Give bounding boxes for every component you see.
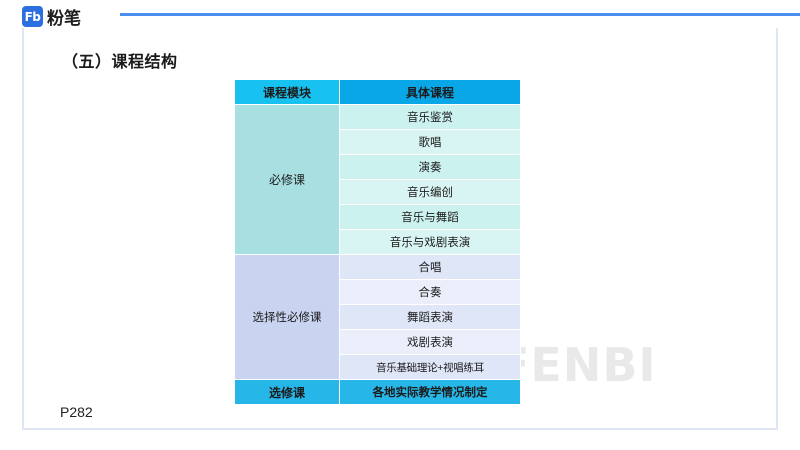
module-required: 必修课 bbox=[235, 105, 340, 255]
course-cell: 音乐编创 bbox=[340, 180, 521, 205]
course-cell: 音乐鉴赏 bbox=[340, 105, 521, 130]
table-header-row: 课程模块 具体课程 bbox=[235, 80, 521, 105]
course-cell: 戏剧表演 bbox=[340, 330, 521, 355]
frame-right-border bbox=[776, 28, 778, 428]
module-elective: 选修课 bbox=[235, 380, 340, 405]
top-rule bbox=[120, 13, 800, 16]
course-cell: 演奏 bbox=[340, 155, 521, 180]
course-cell: 舞蹈表演 bbox=[340, 305, 521, 330]
logo-text: 粉笔 bbox=[47, 4, 81, 29]
frame-bottom-border bbox=[22, 428, 778, 430]
table-row: 必修课 音乐鉴赏 bbox=[235, 105, 521, 130]
header-course: 具体课程 bbox=[340, 80, 521, 105]
course-cell: 合唱 bbox=[340, 255, 521, 280]
logo-mark-icon: Fb bbox=[22, 6, 43, 27]
course-cell: 歌唱 bbox=[340, 130, 521, 155]
top-bar: Fb 粉笔 bbox=[0, 0, 800, 28]
slide-canvas: Fb 粉笔 （五）课程结构 25FENBI P282 课程模块 具体课程 必修课… bbox=[0, 0, 800, 450]
course-cell: 合奏 bbox=[340, 280, 521, 305]
frame-left-border bbox=[22, 28, 24, 428]
module-elective-required: 选择性必修课 bbox=[235, 255, 340, 380]
course-cell: 音乐与舞蹈 bbox=[340, 205, 521, 230]
page-title: （五）课程结构 bbox=[62, 48, 178, 72]
course-cell: 音乐与戏剧表演 bbox=[340, 230, 521, 255]
course-cell: 各地实际教学情况制定 bbox=[340, 380, 521, 405]
course-structure-table: 课程模块 具体课程 必修课 音乐鉴赏 歌唱 演奏 音乐编创 音乐与舞蹈 音乐与戏… bbox=[234, 79, 521, 405]
brand-logo: Fb 粉笔 bbox=[22, 4, 81, 29]
header-module: 课程模块 bbox=[235, 80, 340, 105]
table-row: 选择性必修课 合唱 bbox=[235, 255, 521, 280]
course-cell: 音乐基础理论+视唱练耳 bbox=[340, 355, 521, 380]
table-row: 选修课 各地实际教学情况制定 bbox=[235, 380, 521, 405]
page-number: P282 bbox=[60, 404, 93, 420]
